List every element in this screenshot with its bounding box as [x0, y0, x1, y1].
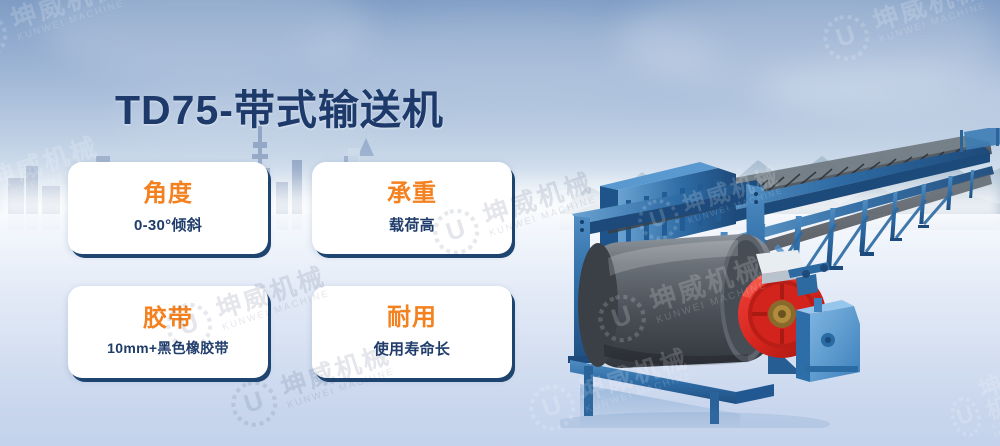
cloud-decoration	[620, 0, 1000, 100]
watermark-text-en: KUNWEI MACHINE	[16, 0, 127, 43]
watermark-text-en: KUNWEI MACHINE	[878, 1, 989, 45]
watermark-text-cn: 坤威机械	[8, 0, 124, 34]
watermark: U 坤威机械 KUNWEI MACHINE	[817, 0, 990, 67]
feature-card-title: 承重	[387, 181, 437, 207]
feature-card-subtitle: 载荷高	[389, 214, 435, 235]
watermark: U 坤威机械 KUNWEI MACHINE	[0, 0, 129, 65]
product-banner: TD75-带式输送机 角度 0-30°倾斜 承重 载荷高 胶带 10mm+黑色橡…	[0, 0, 1000, 446]
watermark-text-cn: 坤威机械	[870, 0, 986, 36]
feature-card-load[interactable]: 承重 载荷高	[312, 162, 512, 254]
feature-card-title: 角度	[143, 181, 193, 207]
feature-card-angle[interactable]: 角度 0-30°倾斜	[68, 162, 268, 254]
cloud-decoration	[760, 60, 1000, 120]
watermark-logo-icon: U	[0, 7, 13, 65]
feature-card-subtitle: 10mm+黑色橡胶带	[107, 338, 229, 358]
feature-card-subtitle: 0-30°倾斜	[134, 214, 202, 235]
feature-card-subtitle: 使用寿命长	[374, 338, 451, 359]
feature-card-durability[interactable]: 耐用 使用寿命长	[312, 286, 512, 378]
cloud-decoration	[40, 0, 370, 80]
belt-conveyor-illustration	[560, 128, 1000, 428]
feature-card-title: 胶带	[143, 306, 193, 332]
watermark-logo-icon: U	[817, 9, 875, 67]
feature-card-title: 耐用	[387, 305, 437, 331]
page-title: TD75-带式输送机	[115, 76, 444, 136]
feature-card-belt[interactable]: 胶带 10mm+黑色橡胶带	[68, 286, 268, 378]
